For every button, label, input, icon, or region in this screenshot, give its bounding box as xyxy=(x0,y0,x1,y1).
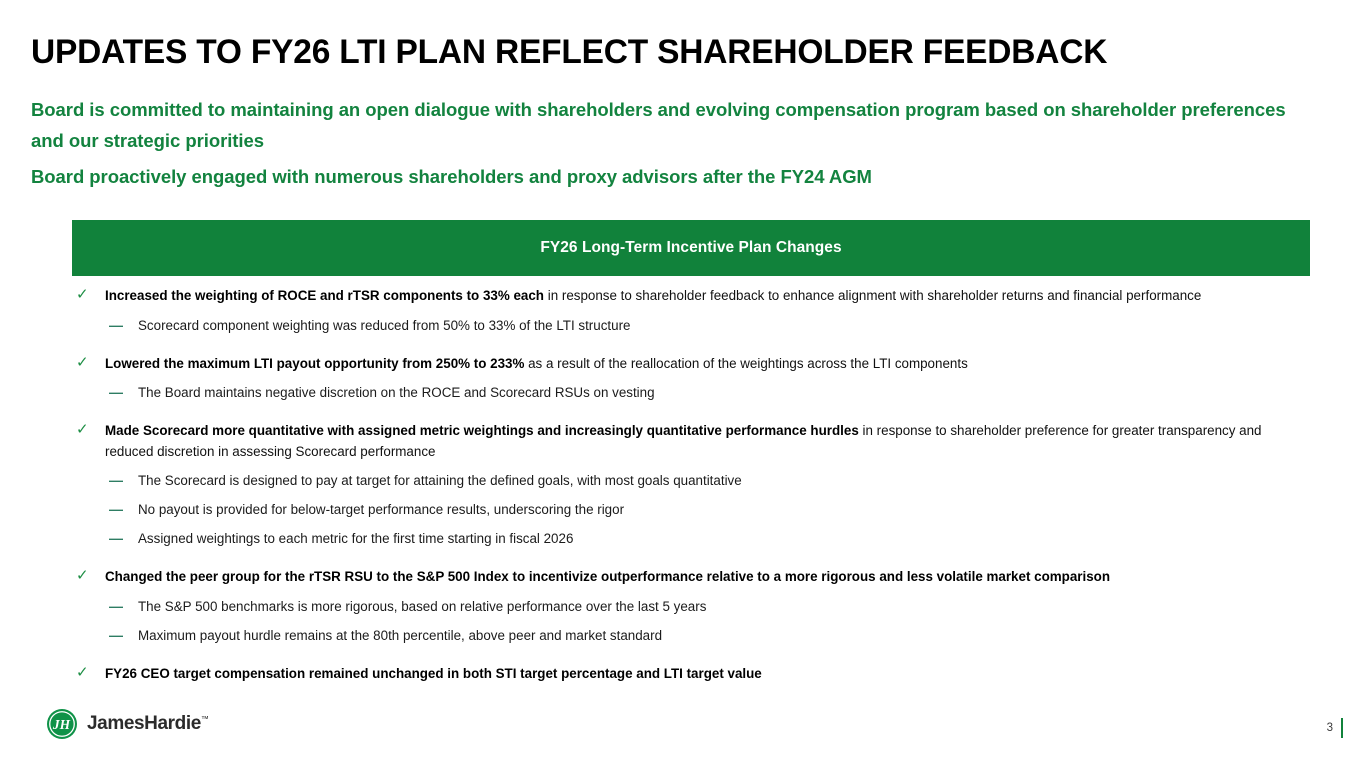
bullet-item-emphasis: Made Scorecard more quantitative with as… xyxy=(105,423,859,438)
sub-bullet-text: Scorecard component weighting was reduce… xyxy=(138,318,631,333)
subheading-primary: Board is committed to maintaining an ope… xyxy=(31,94,1301,156)
check-icon: ✓ xyxy=(76,421,92,439)
page-title: UPDATES TO FY26 LTI PLAN REFLECT SHAREHO… xyxy=(31,33,1107,72)
sub-bullet-item: —The S&P 500 benchmarks is more rigorous… xyxy=(72,597,1310,617)
sub-bullet-item: —No payout is provided for below-target … xyxy=(72,500,1310,520)
page-number-rule xyxy=(1341,718,1343,738)
bullet-item-emphasis: Changed the peer group for the rTSR RSU … xyxy=(105,569,1110,584)
trademark-icon: ™ xyxy=(201,715,209,724)
subheading-block: Board is committed to maintaining an ope… xyxy=(31,94,1301,192)
bullet-group-spacer xyxy=(72,412,1310,421)
bullet-group-spacer xyxy=(72,655,1310,664)
check-icon: ✓ xyxy=(76,354,92,372)
dash-icon: — xyxy=(109,383,127,402)
sub-bullet-text: Assigned weightings to each metric for t… xyxy=(138,531,573,546)
svg-text:JH: JH xyxy=(52,717,71,732)
check-icon: ✓ xyxy=(76,286,92,304)
bullet-item-emphasis: FY26 CEO target compensation remained un… xyxy=(105,666,762,681)
dash-icon: — xyxy=(109,626,127,645)
dash-icon: — xyxy=(109,500,127,519)
dash-icon: — xyxy=(109,529,127,548)
sub-bullet-text: The S&P 500 benchmarks is more rigorous,… xyxy=(138,599,706,614)
slide-root: UPDATES TO FY26 LTI PLAN REFLECT SHAREHO… xyxy=(0,0,1365,768)
section-header-bar: FY26 Long-Term Incentive Plan Changes xyxy=(72,220,1310,276)
sub-bullet-item: —Scorecard component weighting was reduc… xyxy=(72,316,1310,336)
sub-bullet-item: —The Board maintains negative discretion… xyxy=(72,383,1310,403)
james-hardie-circle-icon: JH xyxy=(46,708,78,740)
sub-bullet-item: —Assigned weightings to each metric for … xyxy=(72,529,1310,549)
bullet-item: ✓FY26 CEO target compensation remained u… xyxy=(72,664,1310,685)
dash-icon: — xyxy=(109,316,127,335)
brand-wordmark-text: JamesHardie xyxy=(87,713,201,734)
check-icon: ✓ xyxy=(76,664,92,682)
bullet-group-spacer xyxy=(72,345,1310,354)
bullet-item-emphasis: Increased the weighting of ROCE and rTSR… xyxy=(105,288,544,303)
bullet-group-spacer xyxy=(72,558,1310,567)
sub-bullet-text: Maximum payout hurdle remains at the 80t… xyxy=(138,628,662,643)
sub-bullet-item: —The Scorecard is designed to pay at tar… xyxy=(72,471,1310,491)
sub-bullet-text: The Board maintains negative discretion … xyxy=(138,385,655,400)
dash-icon: — xyxy=(109,597,127,616)
brand-logo: JH JamesHardie™ xyxy=(46,708,209,740)
subheading-secondary: Board proactively engaged with numerous … xyxy=(31,161,1301,192)
sub-bullet-item: —Maximum payout hurdle remains at the 80… xyxy=(72,626,1310,646)
bullet-item: ✓Made Scorecard more quantitative with a… xyxy=(72,421,1310,462)
bullet-item-emphasis: Lowered the maximum LTI payout opportuni… xyxy=(105,356,524,371)
sub-bullet-text: No payout is provided for below-target p… xyxy=(138,502,624,517)
bullet-list: ✓Increased the weighting of ROCE and rTS… xyxy=(72,286,1310,688)
section-header-label: FY26 Long-Term Incentive Plan Changes xyxy=(540,239,841,257)
bullet-item: ✓Changed the peer group for the rTSR RSU… xyxy=(72,567,1310,588)
sub-bullet-text: The Scorecard is designed to pay at targ… xyxy=(138,473,742,488)
bullet-item-text: as a result of the reallocation of the w… xyxy=(524,356,967,371)
dash-icon: — xyxy=(109,471,127,490)
page-number: 3 xyxy=(1327,722,1333,734)
bullet-item: ✓Increased the weighting of ROCE and rTS… xyxy=(72,286,1310,307)
check-icon: ✓ xyxy=(76,567,92,585)
bullet-item: ✓Lowered the maximum LTI payout opportun… xyxy=(72,354,1310,375)
brand-wordmark: JamesHardie™ xyxy=(87,713,209,735)
bullet-item-text: in response to shareholder feedback to e… xyxy=(544,288,1201,303)
